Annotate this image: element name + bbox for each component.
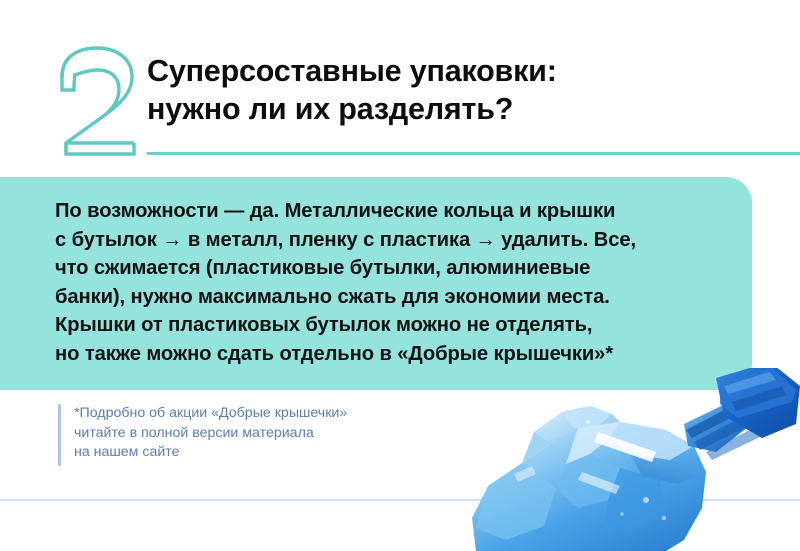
page-title: Суперсоставные упаковки: нужно ли их раз… [147, 52, 787, 128]
bottom-divider [0, 499, 800, 501]
footnote-text: *Подробно об акции «Добрые крышечки» чит… [74, 404, 347, 463]
crushed-plastic-bottle-image [470, 368, 800, 551]
answer-body-text: По возможности — да. Металлические кольц… [55, 197, 755, 369]
slide-header: Суперсоставные упаковки: нужно ли их раз… [0, 0, 800, 160]
infographic-slide: Суперсоставные упаковки: нужно ли их раз… [0, 0, 800, 551]
title-underline-rule [147, 152, 800, 155]
footnote: *Подробно об акции «Добрые крышечки» чит… [58, 404, 347, 466]
footnote-accent-bar [58, 404, 61, 466]
step-number-2-outline [56, 44, 140, 158]
